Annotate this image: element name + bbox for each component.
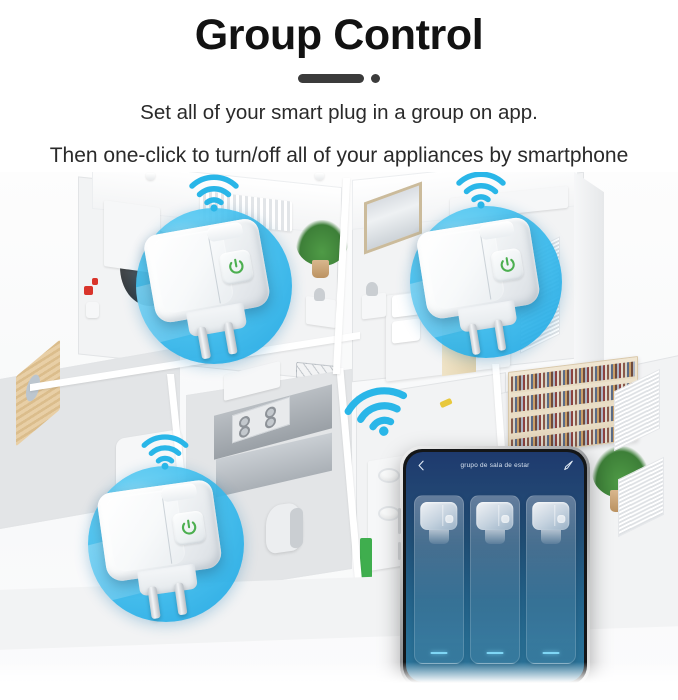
divider-bar [298,74,364,83]
card-plug-base [541,530,562,544]
smart-plug-1[interactable] [142,217,278,359]
page-title: Group Control [0,13,678,58]
power-button-icon[interactable] [171,510,206,545]
pencil-icon[interactable] [562,459,575,472]
plug-callout-2[interactable] [410,206,562,358]
smart-plug-card[interactable] [470,495,520,664]
accent-object-red-2 [92,278,98,285]
smart-plug-2[interactable] [415,216,547,354]
app-top-bar: grupo de sala de estar [406,452,584,478]
card-plug-body [420,502,457,530]
card-status-indicator [543,652,560,655]
subtitle-line-1: Set all of your smart plug in a group on… [0,99,678,126]
phone-bezel: grupo de sala de estar [403,449,587,685]
plug-callout-3[interactable] [88,466,244,622]
smart-plug-card[interactable] [526,495,576,664]
plug-callout-1[interactable] [136,208,292,364]
card-plug-body [476,502,513,530]
pendant-lamp-1 [146,173,155,180]
phone-frame: grupo de sala de estar [400,446,590,688]
product-marketing-image: Group Control Set all of your smart plug… [0,0,678,700]
small-stool [86,302,99,318]
table-lamp-living [314,288,325,301]
smartphone[interactable]: grupo de sala de estar [400,446,590,688]
plug-top-notch [161,483,198,503]
chair-back [290,507,303,549]
card-power-button-icon [501,515,509,523]
card-plug-image [420,502,457,530]
card-plug-seam [442,505,443,525]
plant-pot-living [312,260,329,278]
card-plug-seam [554,505,555,525]
card-status-indicator [487,652,504,655]
card-plug-image [476,502,513,530]
scene-bottom-fade [0,662,678,688]
phone-screen[interactable]: grupo de sala de estar [406,452,584,682]
app-group-title: grupo de sala de estar [434,462,556,469]
bottom-white-strip [0,688,678,700]
accent-object-red [84,286,93,295]
bath-towel-green [360,538,372,578]
phone-power-button[interactable] [398,542,401,560]
bedside-lamp [366,282,378,296]
card-plug-body [532,502,569,530]
plug-top-notch [206,221,243,242]
pendant-lamp-2 [315,173,324,180]
floorplan-scene: grupo de sala de estar [0,168,678,688]
bathroom-sink-1 [378,468,400,483]
header-section: Group Control Set all of your smart plug… [0,0,678,172]
power-button-icon[interactable] [218,249,254,285]
smart-plug-card[interactable] [414,495,464,664]
card-plug-seam [498,505,499,525]
divider-dot [371,74,380,83]
group-device-list [414,495,576,664]
smart-plug-3[interactable] [96,479,228,618]
subtitle-line-2: Then one-click to turn/off all of your a… [0,142,678,170]
back-chevron-icon[interactable] [415,459,428,472]
card-power-button-icon [557,515,565,523]
card-status-indicator [431,652,448,655]
bathroom-sink-2 [378,506,400,521]
plug-top-notch [478,220,514,240]
card-power-button-icon [445,515,453,523]
nightstand [362,293,386,320]
card-plug-base [485,530,506,544]
card-plug-image [532,502,569,530]
phone-volume-button[interactable] [398,508,401,534]
power-button-icon[interactable] [490,247,525,282]
title-divider [0,73,678,83]
card-plug-base [429,530,450,544]
